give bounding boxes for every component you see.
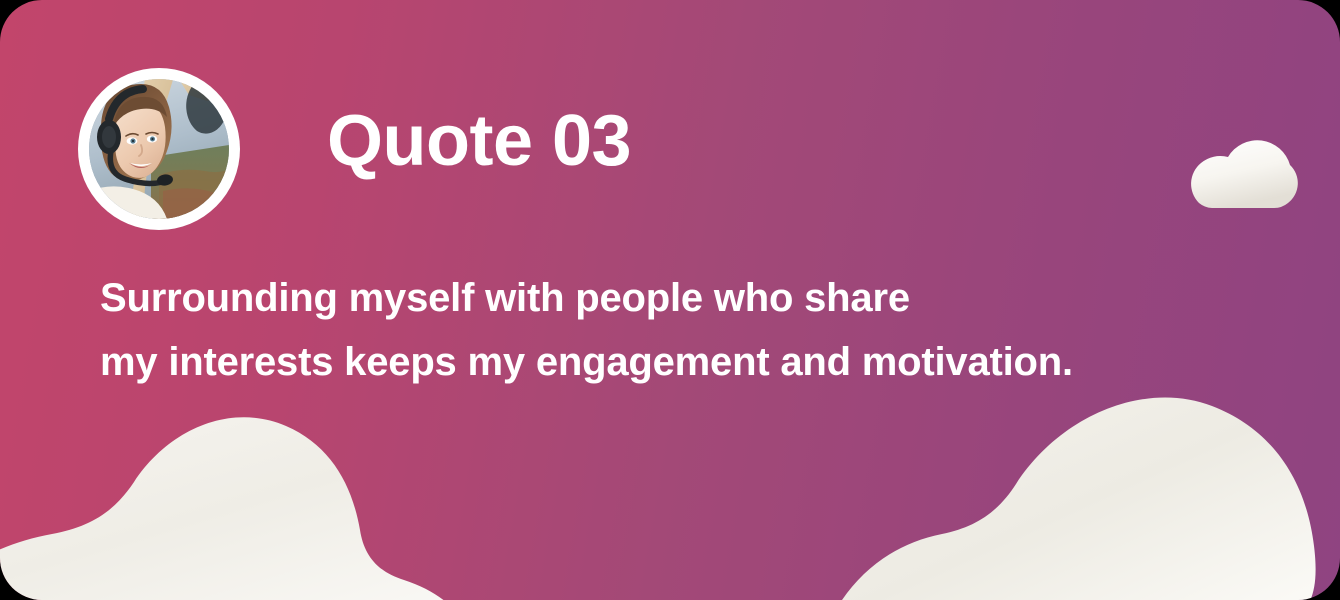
- quote-text: Surrounding myself with people who share…: [100, 266, 1073, 394]
- cloud-bottom-left-icon: [0, 417, 488, 600]
- avatar-image-clip: [89, 79, 229, 219]
- page-title: Quote 03: [327, 104, 631, 180]
- avatar-photo: [89, 79, 229, 219]
- quote-card: Quote 03 Surrounding myself with people …: [0, 0, 1340, 600]
- cloud-bottom-right-icon: [830, 398, 1316, 600]
- avatar: [78, 68, 240, 230]
- quote-line-1: Surrounding myself with people who share: [100, 266, 1073, 330]
- quote-line-2: my interests keeps my engagement and mot…: [100, 330, 1073, 394]
- cloud-small-icon: [1191, 140, 1298, 208]
